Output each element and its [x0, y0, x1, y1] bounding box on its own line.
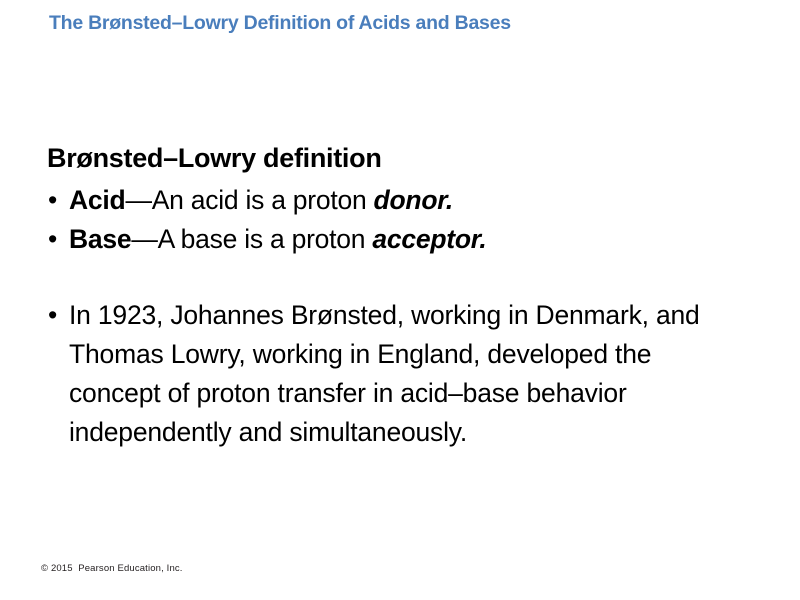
definition-bullet-list: • Acid—An acid is a proton donor. • Base…	[47, 181, 757, 259]
copyright-footer: © 2015 Pearson Education, Inc.	[41, 563, 183, 574]
bullet-item-base: • Base—A base is a proton acceptor.	[47, 220, 757, 259]
term-acid: Acid	[69, 185, 125, 215]
bullet-item-history: • In 1923, Johannes Brønsted, working in…	[47, 296, 729, 452]
bullet-point-icon: •	[48, 220, 57, 259]
acid-emphasis-donor: donor.	[374, 185, 453, 215]
bullet-point-icon: •	[48, 181, 57, 220]
bullet-point-icon: •	[48, 296, 57, 335]
em-dash-base: —	[131, 224, 157, 254]
bullet-base-text: Base—A base is a proton acceptor.	[69, 224, 487, 254]
presentation-slide: The Brønsted–Lowry Definition of Acids a…	[0, 0, 800, 600]
bullet-item-acid: • Acid—An acid is a proton donor.	[47, 181, 757, 220]
bullet-acid-text: Acid—An acid is a proton donor.	[69, 185, 453, 215]
em-dash-acid: —	[125, 185, 151, 215]
history-paragraph-text: In 1923, Johannes Brønsted, working in D…	[69, 300, 700, 447]
base-emphasis-acceptor: acceptor.	[372, 224, 486, 254]
slide-body-content: Brønsted–Lowry definition • Acid—An acid…	[47, 141, 757, 452]
paragraph-spacer	[47, 259, 757, 296]
body-heading: Brønsted–Lowry definition	[47, 141, 757, 175]
acid-definition-text: An acid is a proton	[152, 185, 374, 215]
term-base: Base	[69, 224, 131, 254]
base-definition-text: A base is a proton	[158, 224, 373, 254]
slide-title: The Brønsted–Lowry Definition of Acids a…	[49, 11, 769, 35]
